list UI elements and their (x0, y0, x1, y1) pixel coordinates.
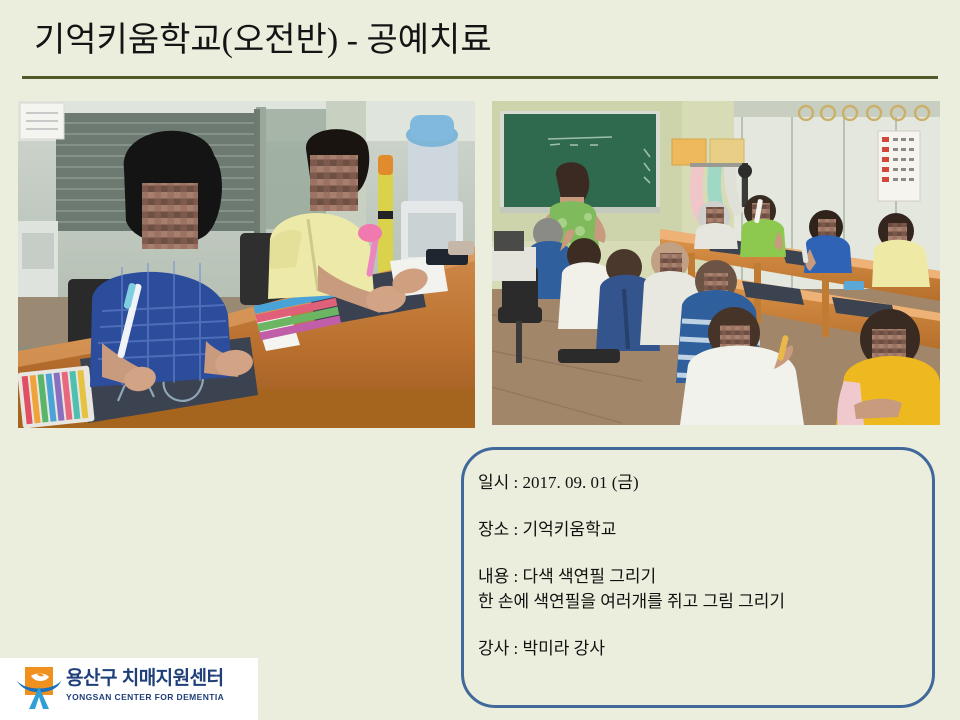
logo-panel: 용산구 치매지원센터 YONGSAN CENTER FOR DEMENTIA (0, 658, 258, 720)
photo-left (18, 101, 475, 428)
page-title: 기억키움학교(오전반) - 공예치료 (34, 19, 492, 63)
yongsan-center-logo-icon (16, 667, 62, 709)
logo-korean-name: 용산구 치매지원센터 (66, 668, 251, 690)
slide-canvas: 기억키움학교(오전반) - 공예치료 (0, 0, 960, 720)
info-place: 장소 : 기억키움학교 (478, 517, 928, 542)
title-divider (22, 76, 938, 79)
info-content-2: 한 손에 색연필을 여러개를 쥐고 그림 그리기 (478, 589, 928, 614)
info-date: 일시 : 2017. 09. 01 (금) (478, 470, 928, 495)
info-spacer-3 (478, 614, 928, 636)
photo-right-image (492, 101, 940, 425)
logo-english-name: YONGSAN CENTER FOR DEMENTIA (66, 692, 251, 703)
info-content: 내용 : 다색 색연필 그리기 (478, 564, 928, 589)
logo-text: 용산구 치매지원센터 YONGSAN CENTER FOR DEMENTIA (66, 668, 251, 703)
info-spacer-2 (478, 542, 928, 564)
info-instructor: 강사 : 박미라 강사 (478, 636, 928, 661)
photo-left-image (18, 101, 475, 428)
photo-right (492, 101, 940, 425)
info-spacer-1 (478, 495, 928, 517)
info-box-text: 일시 : 2017. 09. 01 (금) 장소 : 기억키움학교 내용 : 다… (478, 470, 928, 661)
